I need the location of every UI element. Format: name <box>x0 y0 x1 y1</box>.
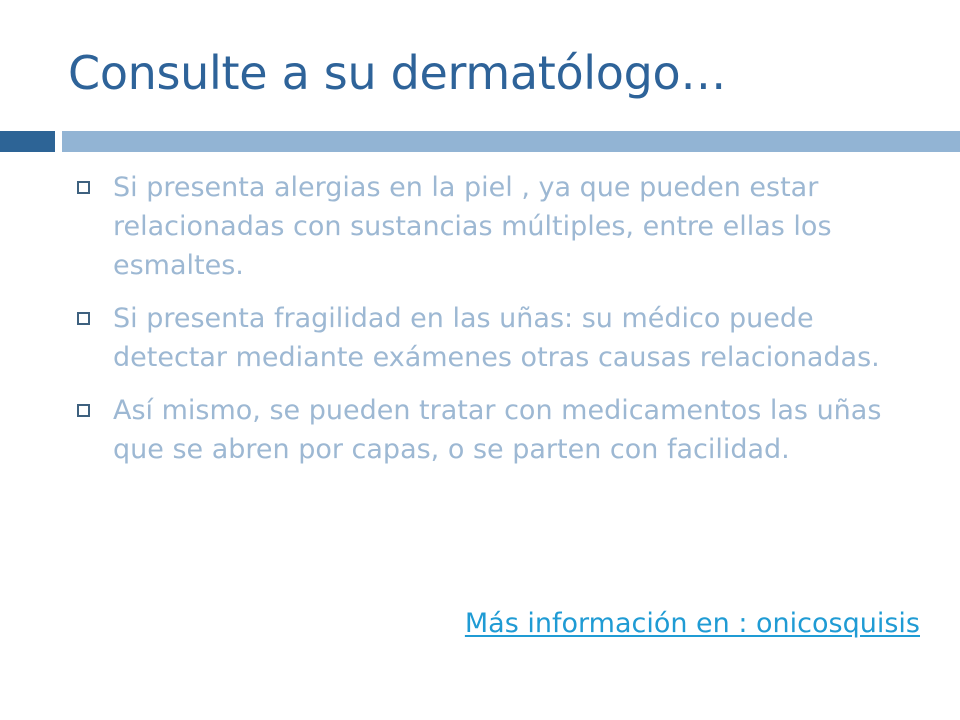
hollow-square-bullet-icon <box>77 312 90 325</box>
hollow-square-bullet-icon <box>77 404 90 417</box>
more-info-link[interactable]: Más información en : onicosquisis <box>465 608 920 639</box>
hollow-square-bullet-icon <box>77 181 90 194</box>
list-item-label: Si presenta fragilidad en las uñas: su m… <box>113 299 932 377</box>
more-info-row: Más información en : onicosquisis <box>0 606 920 642</box>
list-item-label: Si presenta alergias en la piel , ya que… <box>113 168 932 285</box>
list-item: Si presenta fragilidad en las uñas: su m… <box>72 299 932 377</box>
divider-bar <box>62 131 960 152</box>
divider-accent-block <box>0 131 55 152</box>
page-title: Consulte a su dermatólogo… <box>68 44 928 102</box>
title-divider <box>0 131 960 152</box>
bullet-list: Si presenta alergias en la piel , ya que… <box>72 168 932 469</box>
list-item: Si presenta alergias en la piel , ya que… <box>72 168 932 285</box>
list-item-label: Así mismo, se pueden tratar con medicame… <box>113 391 932 469</box>
slide: Consulte a su dermatólogo… Si presenta a… <box>0 0 960 720</box>
list-item: Así mismo, se pueden tratar con medicame… <box>72 391 932 469</box>
